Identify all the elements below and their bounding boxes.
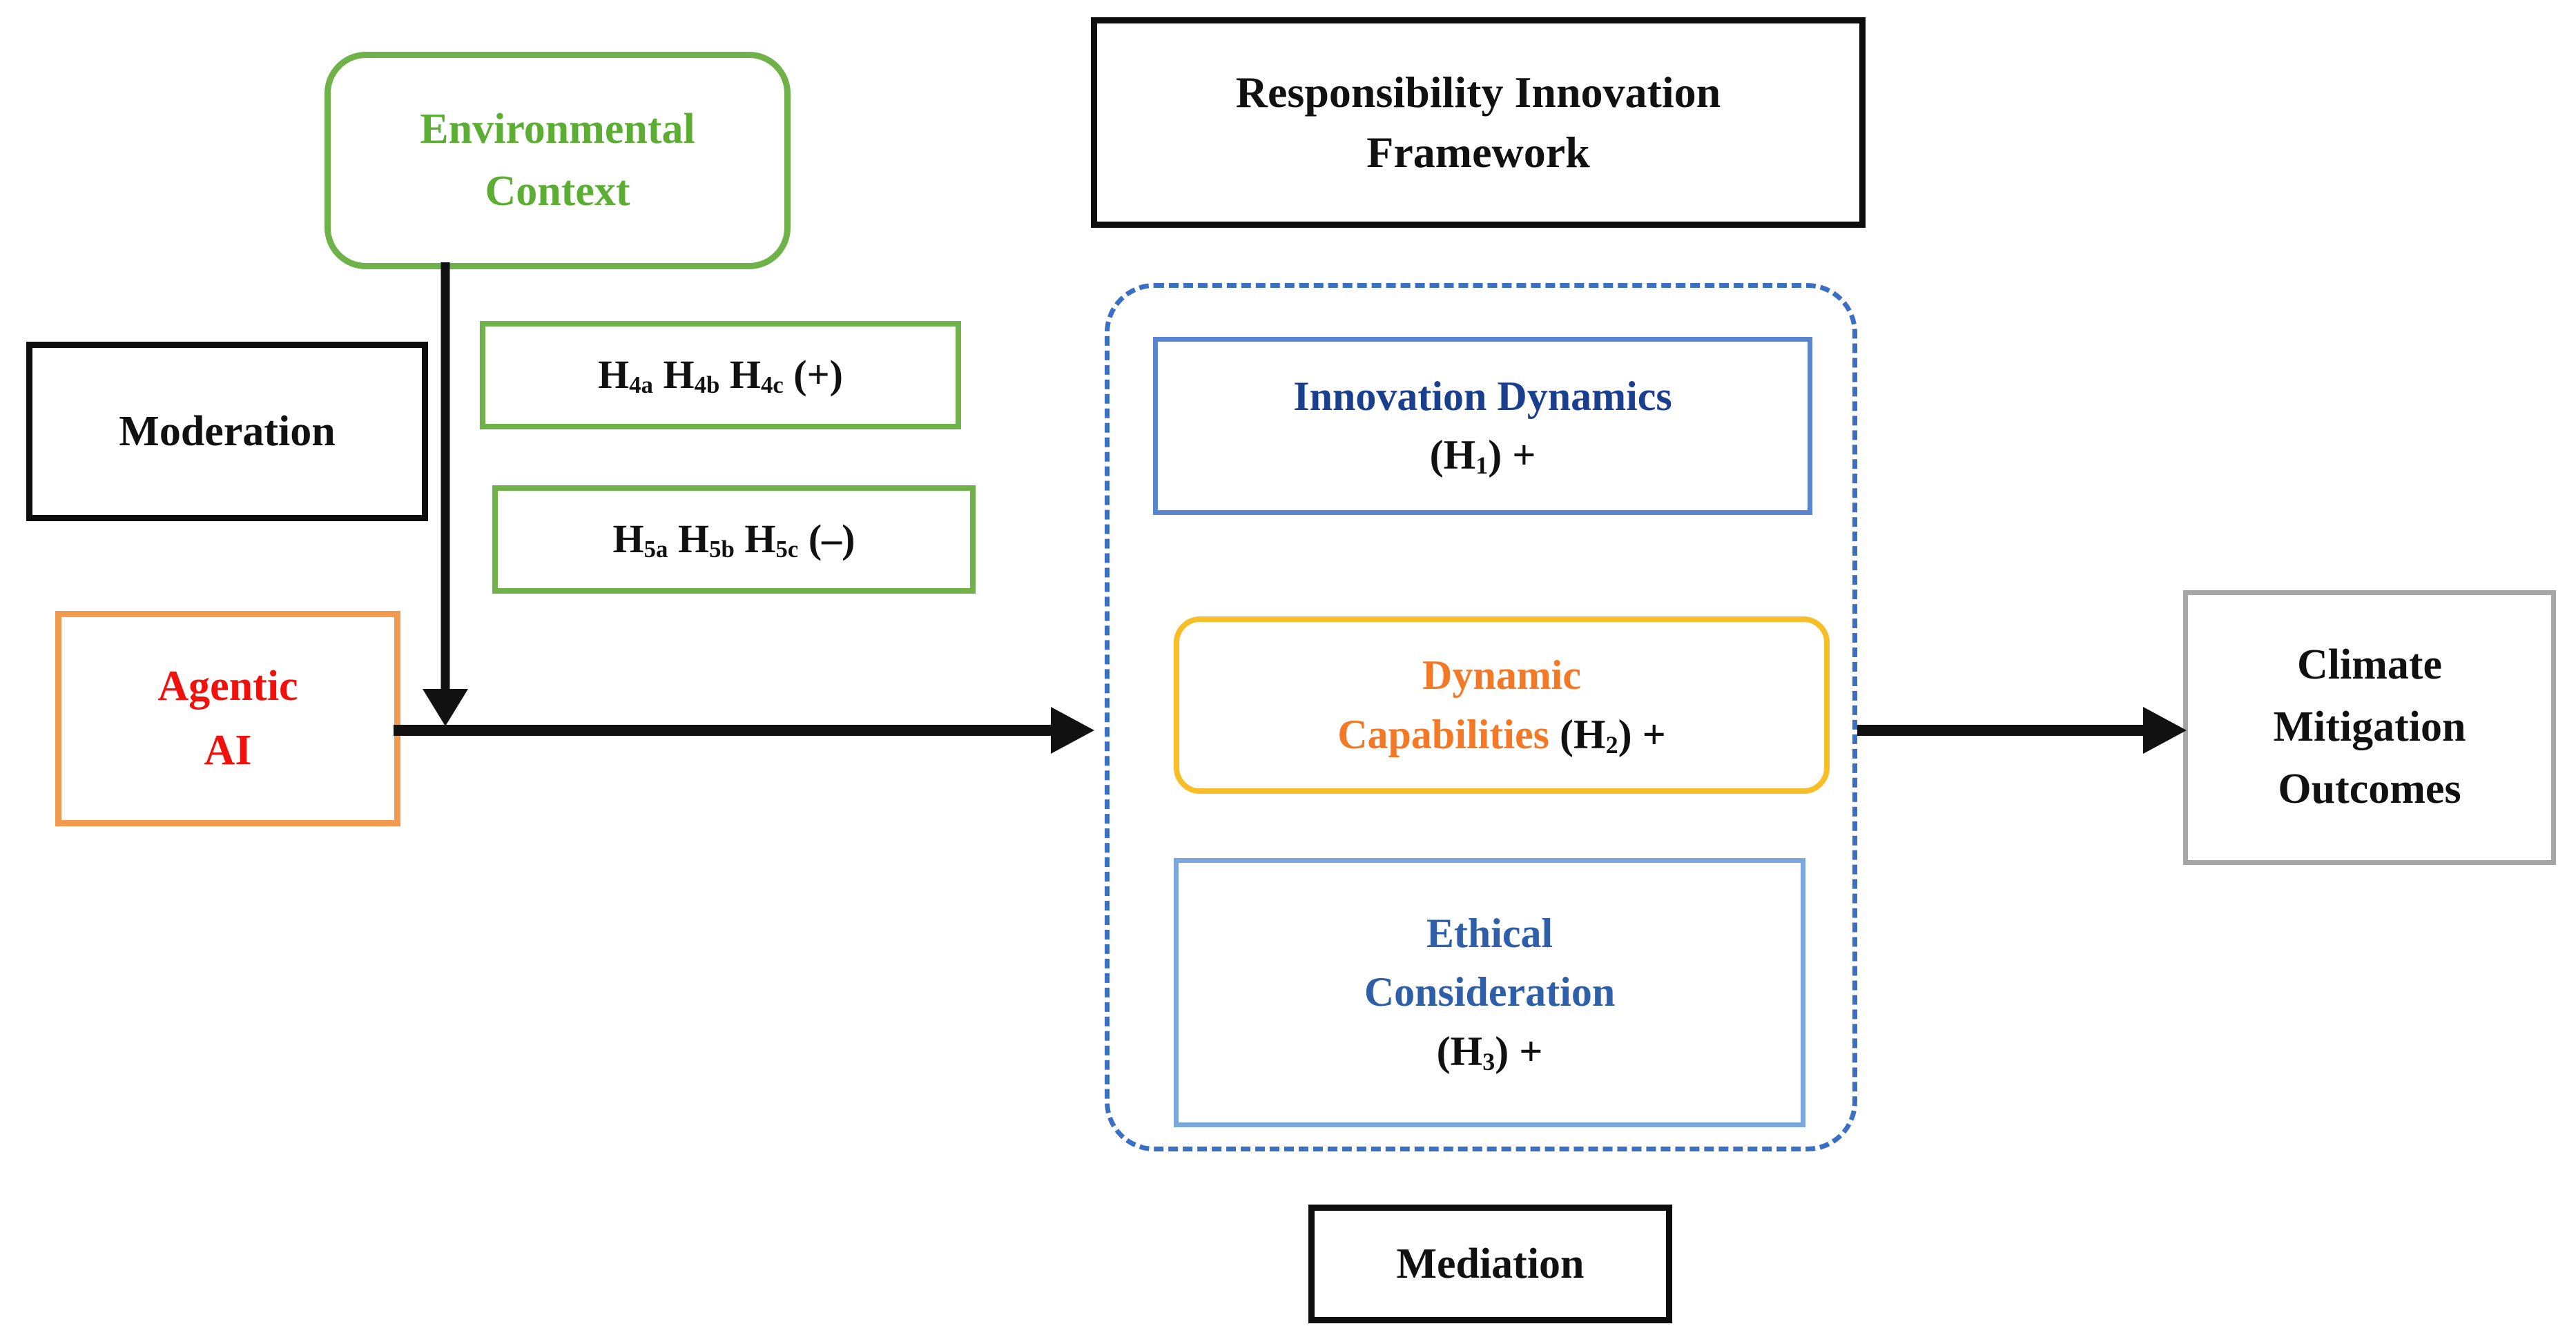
dynamic-capabilities-label-line2: Capabilities (1337, 712, 1549, 757)
framework-title-box: Responsibility Innovation Framework (1091, 17, 1866, 228)
mediator-to-outcome-arrow (1850, 697, 2209, 780)
outcome-line2: Mitigation (2274, 697, 2466, 759)
outcome-line1: Climate (2297, 634, 2442, 697)
mediation-label: Mediation (1396, 1240, 1584, 1289)
ethical-consideration-label-line2: Consideration (1364, 963, 1615, 1022)
hypothesis-h5-box[interactable]: H5a H5b H5c (–) (492, 485, 976, 594)
mediation-label-box[interactable]: Mediation (1308, 1205, 1672, 1323)
dynamic-capabilities-label-line1: Dynamic (1422, 646, 1581, 705)
hypothesis-h5-label: H5a H5b H5c (–) (613, 516, 855, 563)
climate-mitigation-outcomes-node[interactable]: Climate Mitigation Outcomes (2183, 590, 2556, 865)
framework-title-line1: Responsibility Innovation (1236, 63, 1721, 122)
innovation-dynamics-hypothesis: (H1) + (1430, 426, 1536, 485)
moderation-label-box[interactable]: Moderation (26, 342, 428, 521)
ethical-consideration-node[interactable]: Ethical Consideration (H3) + (1174, 858, 1805, 1127)
dynamic-capabilities-hypothesis: (H2) + (1549, 712, 1666, 757)
outcome-line3: Outcomes (2278, 759, 2461, 821)
framework-title-line2: Framework (1366, 123, 1589, 182)
environmental-context-line1: Environmental (420, 99, 695, 161)
ethical-consideration-hypothesis: (H3) + (1437, 1022, 1543, 1081)
moderation-arrow-down (414, 262, 497, 746)
agentic-ai-line1: Agentic (157, 654, 298, 719)
ethical-consideration-label-line1: Ethical (1426, 904, 1553, 963)
environmental-context-line2: Context (485, 161, 630, 223)
framework-diagram: Environmental Context Moderation H4a H4b… (0, 0, 2576, 1344)
agentic-ai-line2: AI (204, 719, 252, 783)
agentic-ai-node[interactable]: Agentic AI (55, 611, 400, 826)
agentic-ai-to-mediator-arrow (387, 697, 1118, 780)
moderation-label: Moderation (119, 407, 335, 456)
environmental-context-node[interactable]: Environmental Context (325, 52, 791, 269)
innovation-dynamics-label: Innovation Dynamics (1293, 367, 1672, 426)
dynamic-capabilities-node[interactable]: Dynamic Capabilities (H2) + (1174, 616, 1830, 794)
hypothesis-h4-box[interactable]: H4a H4b H4c (+) (480, 321, 961, 429)
innovation-dynamics-node[interactable]: Innovation Dynamics (H1) + (1153, 337, 1812, 515)
dynamic-capabilities-line2: Capabilities (H2) + (1337, 705, 1666, 764)
hypothesis-h4-label: H4a H4b H4c (+) (598, 351, 843, 399)
